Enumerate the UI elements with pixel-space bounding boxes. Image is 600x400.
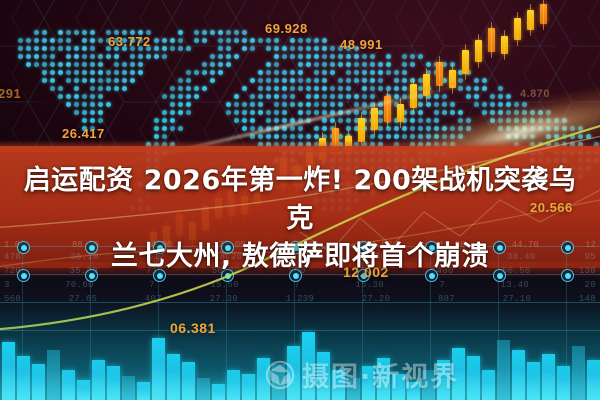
numeric-callout: 4.870 [520,88,550,100]
headline-line-2: 兰七大州, 敖德萨即将首个崩溃 [14,238,586,276]
numeric-callout: 26.417 [62,126,105,141]
stock-market-news-banner: 1.0088.0014.0075.0010.0614.0016.0044.701… [0,0,600,400]
numeric-callout: 69.928 [265,21,308,36]
numeric-callout: 06.381 [170,320,216,336]
headline-line-1: 启运配资 2026年第一炸! 200架战机突袭乌克 [14,162,586,238]
headline: 启运配资 2026年第一炸! 200架战机突袭乌克 兰七大州, 敖德萨即将首个崩… [0,162,600,276]
numeric-callout: 63.772 [108,34,151,49]
numeric-callout: 48.991 [340,37,383,52]
numeric-callout: 291 [0,86,21,101]
